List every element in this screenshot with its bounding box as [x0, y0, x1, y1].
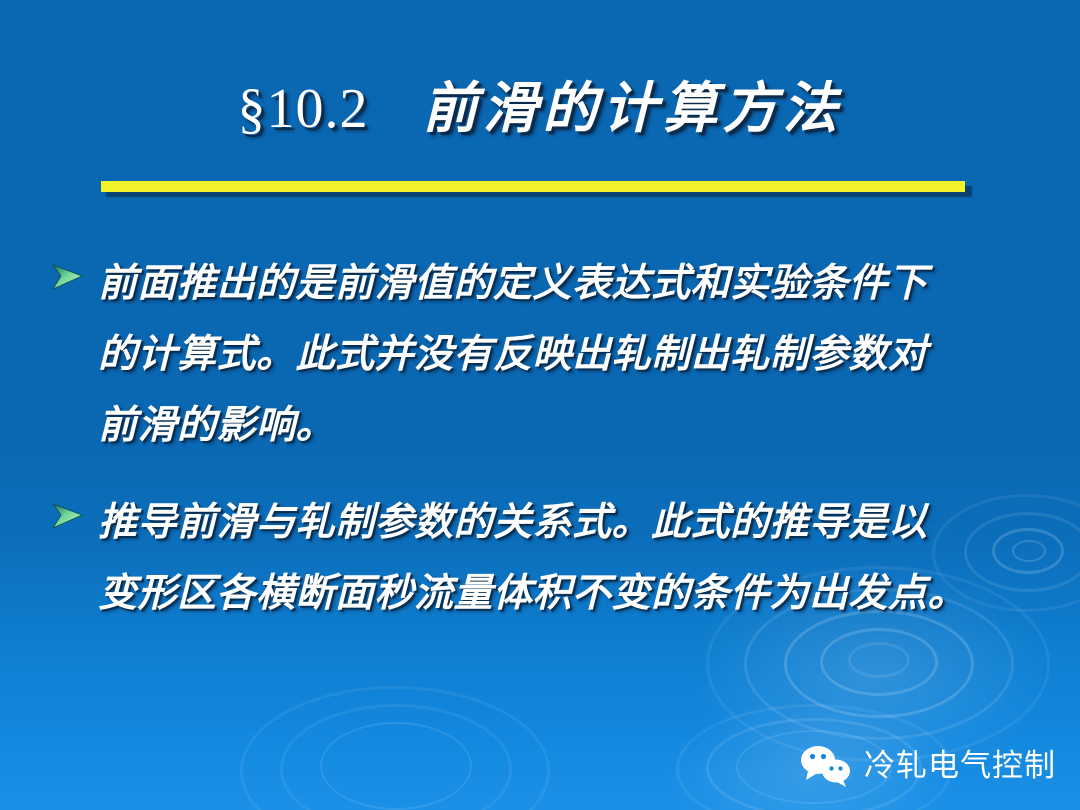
- bullet-paragraph: 推导前滑与轧制参数的关系式。此式的推导是以 变形区各横断面秒流量体积不变的条件为…: [98, 487, 1042, 629]
- title-underline: [101, 181, 965, 192]
- presentation-slide: §10.2前滑的计算方法: [0, 0, 1080, 810]
- bullet-line: 的计算式。此式并没有反映出轧制出轧制参数对: [98, 319, 1042, 390]
- list-item: 推导前滑与轧制参数的关系式。此式的推导是以 变形区各横断面秒流量体积不变的条件为…: [52, 487, 1042, 629]
- title-heading-text: 前滑的计算方法: [422, 75, 842, 140]
- slide-body: 前面推出的是前滑值的定义表达式和实验条件下 的计算式。此式并没有反映出轧制出轧制…: [52, 248, 1042, 629]
- bullet-line: 前滑的影响。: [98, 390, 1042, 461]
- title-section-number: §10.2: [237, 78, 368, 140]
- slide-title-block: §10.2前滑的计算方法: [0, 78, 1080, 139]
- watermark: 冷轧电气控制: [799, 744, 1056, 788]
- wechat-logo-icon: [799, 744, 853, 788]
- watermark-label: 冷轧电气控制: [864, 751, 1056, 782]
- list-item: 前面推出的是前滑值的定义表达式和实验条件下 的计算式。此式并没有反映出轧制出轧制…: [52, 248, 1042, 461]
- bullet-line: 推导前滑与轧制参数的关系式。此式的推导是以: [98, 487, 1042, 558]
- bullet-line: 前面推出的是前滑值的定义表达式和实验条件下: [98, 248, 1042, 319]
- page-title: §10.2前滑的计算方法: [237, 78, 842, 139]
- bullet-paragraph: 前面推出的是前滑值的定义表达式和实验条件下 的计算式。此式并没有反映出轧制出轧制…: [98, 248, 1042, 461]
- bullet-line: 变形区各横断面秒流量体积不变的条件为出发点。: [98, 558, 1042, 629]
- green-arrow-bullet-icon: [52, 248, 98, 290]
- green-arrow-bullet-icon: [52, 487, 98, 529]
